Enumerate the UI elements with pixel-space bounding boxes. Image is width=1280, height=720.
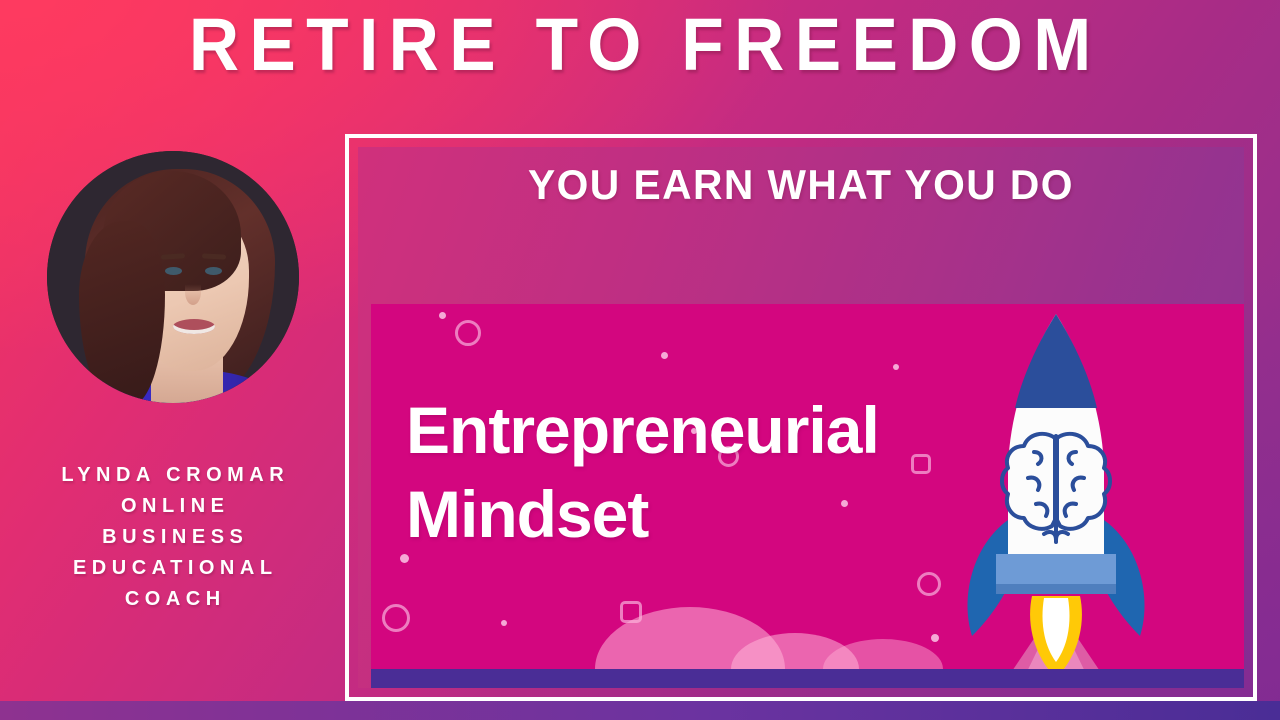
content-panel: YOU EARN WHAT YOU DO <box>358 147 1244 688</box>
rocket-with-brain-icon <box>916 306 1196 669</box>
credit-line-educational: EDUCATIONAL <box>0 553 345 584</box>
credit-line-name: LYNDA CROMAR <box>0 460 345 491</box>
hair-side-shape <box>79 221 165 403</box>
presenter-credits: LYNDA CROMAR ONLINE BUSINESS EDUCATIONAL… <box>0 460 345 615</box>
credit-line-online: ONLINE <box>0 491 345 522</box>
nose-shape <box>185 279 201 305</box>
artwork-image: Entrepreneurial Mindset <box>371 304 1244 669</box>
decor-dot-1 <box>439 312 446 319</box>
credit-line-coach: COACH <box>0 584 345 615</box>
decor-ring-3 <box>382 604 410 632</box>
decor-dot-5 <box>501 620 507 626</box>
panel-subtitle: YOU EARN WHAT YOU DO <box>371 160 1230 210</box>
credit-line-business: BUSINESS <box>0 522 345 553</box>
artwork-title: Entrepreneurial Mindset <box>406 388 879 556</box>
page-title: RETIRE TO FREEDOM <box>38 4 1241 86</box>
video-thumbnail-canvas: RETIRE TO FREEDOM LYNDA CROMAR ONLINE <box>0 0 1280 720</box>
artwork-title-line-1: Entrepreneurial <box>406 388 879 472</box>
presenter-sidebar: LYNDA CROMAR ONLINE BUSINESS EDUCATIONAL… <box>0 105 345 665</box>
decor-dot-7 <box>893 364 899 370</box>
mouth-shape <box>173 319 215 334</box>
avatar <box>47 151 299 403</box>
artwork-bottom-strip <box>371 669 1244 688</box>
eye-left <box>165 267 182 275</box>
bottom-edge-strip <box>0 701 1280 720</box>
content-frame: YOU EARN WHAT YOU DO <box>345 134 1257 701</box>
decor-ring-1 <box>455 320 481 346</box>
artwork-title-line-2: Mindset <box>406 472 879 556</box>
eye-right <box>205 267 222 275</box>
avatar-photo <box>47 151 299 403</box>
decor-dot-2 <box>661 352 668 359</box>
